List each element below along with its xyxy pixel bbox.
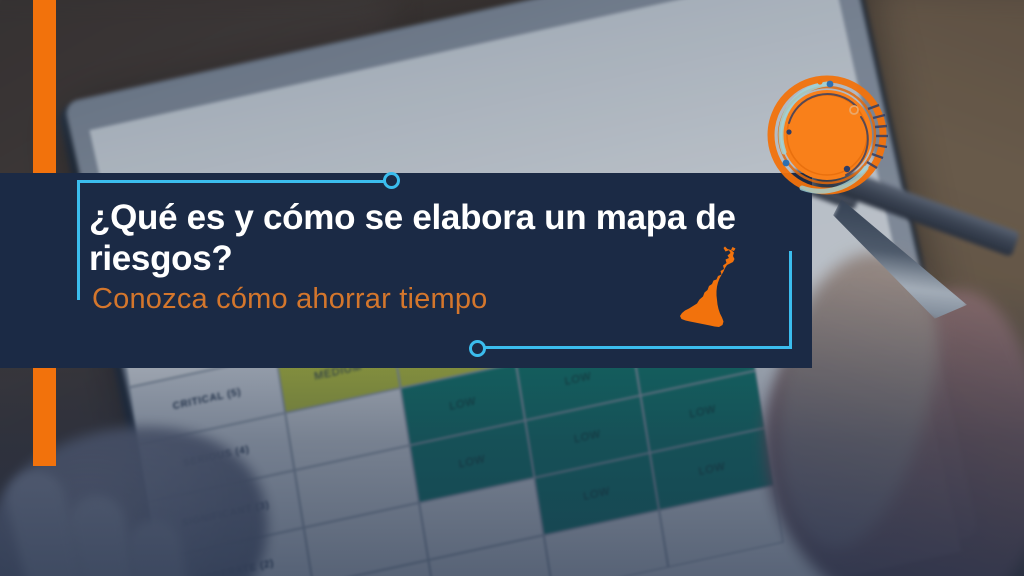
slide-canvas: Severity MEDIUM MEDIUM MEDIUM MEDIUM CRI…	[0, 0, 1024, 576]
cyan-node-dot-top-icon	[383, 172, 400, 189]
chile-map-icon	[676, 246, 742, 330]
page-subtitle: Conozca cómo ahorrar tiempo	[92, 283, 487, 316]
cyan-node-dot-bottom-icon	[469, 340, 486, 357]
circular-hud-badge-icon	[762, 70, 892, 200]
